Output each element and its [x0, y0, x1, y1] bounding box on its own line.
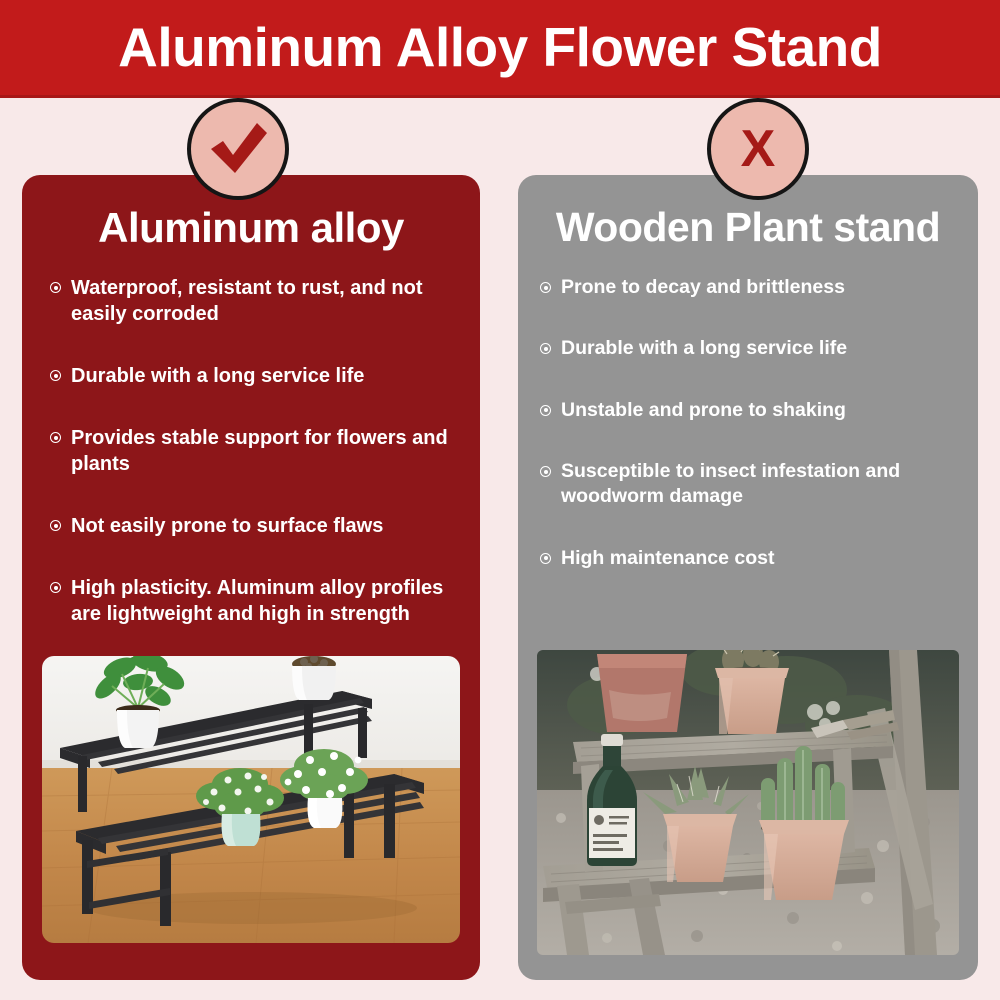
- bullet-dot-icon: [540, 282, 551, 293]
- check-mark-icon: [207, 123, 269, 175]
- list-item: Not easily prone to surface flaws: [50, 513, 462, 539]
- list-item-label: Not easily prone to surface flaws: [71, 513, 383, 539]
- comparison-card-aluminum: Aluminum alloy Waterproof, resistant to …: [22, 175, 480, 980]
- bullet-dot-icon: [50, 520, 61, 531]
- card-title-wooden: Wooden Plant stand: [518, 207, 978, 248]
- page-title: Aluminum Alloy Flower Stand: [118, 20, 882, 75]
- list-item: Susceptible to insect infestation and wo…: [540, 459, 968, 510]
- comparison-card-wooden: Wooden Plant stand Prone to decay and br…: [518, 175, 978, 980]
- wooden-stand-illustration: [537, 650, 959, 955]
- list-item-label: Provides stable support for flowers and …: [71, 425, 462, 477]
- bullet-dot-icon: [540, 553, 551, 564]
- header-divider: [0, 95, 1000, 98]
- list-item: Unstable and prone to shaking: [540, 398, 968, 423]
- aluminum-stand-illustration: [42, 656, 460, 943]
- check-badge: [187, 98, 289, 200]
- list-item-label: Prone to decay and brittleness: [561, 275, 845, 300]
- list-item: Durable with a long service life: [50, 363, 462, 389]
- bullet-dot-icon: [50, 582, 61, 593]
- bullet-dot-icon: [540, 466, 551, 477]
- bullet-dot-icon: [50, 282, 61, 293]
- bullet-dot-icon: [540, 343, 551, 354]
- product-photo-wooden-stand: [537, 650, 959, 955]
- list-item-label: Durable with a long service life: [71, 363, 364, 389]
- list-item: Provides stable support for flowers and …: [50, 425, 462, 477]
- feature-list-wooden: Prone to decay and brittleness Durable w…: [540, 275, 968, 607]
- bullet-dot-icon: [50, 370, 61, 381]
- list-item: Prone to decay and brittleness: [540, 275, 968, 300]
- card-title-aluminum: Aluminum alloy: [22, 207, 480, 249]
- feature-list-aluminum: Waterproof, resistant to rust, and not e…: [50, 275, 462, 663]
- cross-mark-icon: X: [741, 123, 776, 175]
- product-photo-aluminum-stand: [42, 656, 460, 943]
- list-item: High plasticity. Aluminum alloy profiles…: [50, 575, 462, 627]
- header-banner: Aluminum Alloy Flower Stand: [0, 0, 1000, 95]
- list-item-label: Susceptible to insect infestation and wo…: [561, 459, 968, 510]
- list-item-label: Waterproof, resistant to rust, and not e…: [71, 275, 462, 327]
- list-item-label: Unstable and prone to shaking: [561, 398, 846, 423]
- list-item-label: High maintenance cost: [561, 546, 774, 571]
- list-item-label: Durable with a long service life: [561, 336, 847, 361]
- list-item-label: High plasticity. Aluminum alloy profiles…: [71, 575, 462, 627]
- cross-badge: X: [707, 98, 809, 200]
- list-item: Durable with a long service life: [540, 336, 968, 361]
- list-item: High maintenance cost: [540, 546, 968, 571]
- bullet-dot-icon: [50, 432, 61, 443]
- bullet-dot-icon: [540, 405, 551, 416]
- list-item: Waterproof, resistant to rust, and not e…: [50, 275, 462, 327]
